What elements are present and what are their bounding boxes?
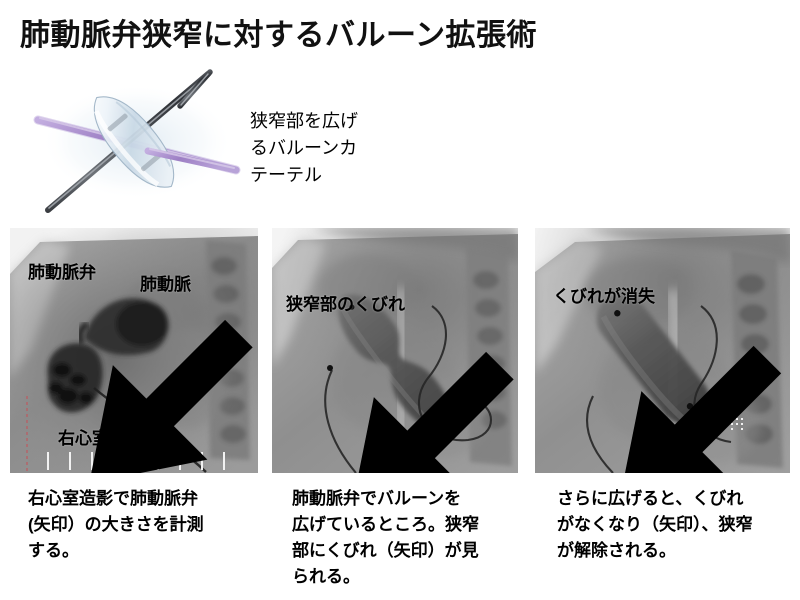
- arrow-waist-resolved: [569, 308, 790, 473]
- balloon-catheter-photo: [30, 58, 245, 216]
- caption-line: られる。: [292, 564, 542, 590]
- caption-line: 広げているところ。狭窄: [292, 512, 542, 538]
- caption-panel-1: 右心室造影で肺動脈弁 (矢印）の大きさを計測 する。: [28, 486, 278, 564]
- caption-line: さらに広げると、くびれ: [557, 486, 800, 512]
- caption-line: 肺動脈弁でバルーンを: [292, 486, 542, 512]
- label-waist-resolved: くびれが消失: [553, 282, 655, 307]
- caption-line: が解除される。: [557, 538, 800, 564]
- label-pulmonary-valve: 肺動脈弁: [28, 258, 96, 283]
- arrow-pulmonary-valve: [44, 282, 258, 473]
- caption-line: 部にくびれ（矢印）が見: [292, 538, 542, 564]
- xray-panel-balloon-with-waist: 狭窄部のくびれ: [272, 228, 518, 473]
- caption-panel-3: さらに広げると、くびれ がなくなり（矢印）、狭窄 が解除される。: [557, 486, 800, 564]
- caption-line: がなくなり（矢印）、狭窄: [557, 512, 800, 538]
- caption-line: する。: [28, 538, 278, 564]
- xray-panel-balloon-fully-expanded: くびれが消失: [535, 228, 790, 473]
- catheter-caption-line: 狭窄部を広げ: [250, 108, 425, 135]
- label-stenosis-waist: 狭窄部のくびれ: [286, 290, 405, 315]
- xray-panel-right-ventricle-angiography: 肺動脈弁 肺動脈 右心室: [10, 228, 258, 473]
- catheter-caption: 狭窄部を広げ るバルーンカ テーテル: [250, 108, 425, 189]
- arrow-stenosis-waist: [306, 314, 518, 473]
- caption-line: 右心室造影で肺動脈弁: [28, 486, 278, 512]
- catheter-caption-line: テーテル: [250, 162, 425, 189]
- catheter-illustration: [30, 58, 245, 216]
- caption-line: (矢印）の大きさを計測: [28, 512, 278, 538]
- page-title: 肺動脈弁狭窄に対するバルーン拡張術: [20, 18, 537, 54]
- catheter-caption-line: るバルーンカ: [250, 135, 425, 162]
- caption-panel-2: 肺動脈弁でバルーンを 広げているところ。狭窄 部にくびれ（矢印）が見 られる。: [292, 486, 542, 590]
